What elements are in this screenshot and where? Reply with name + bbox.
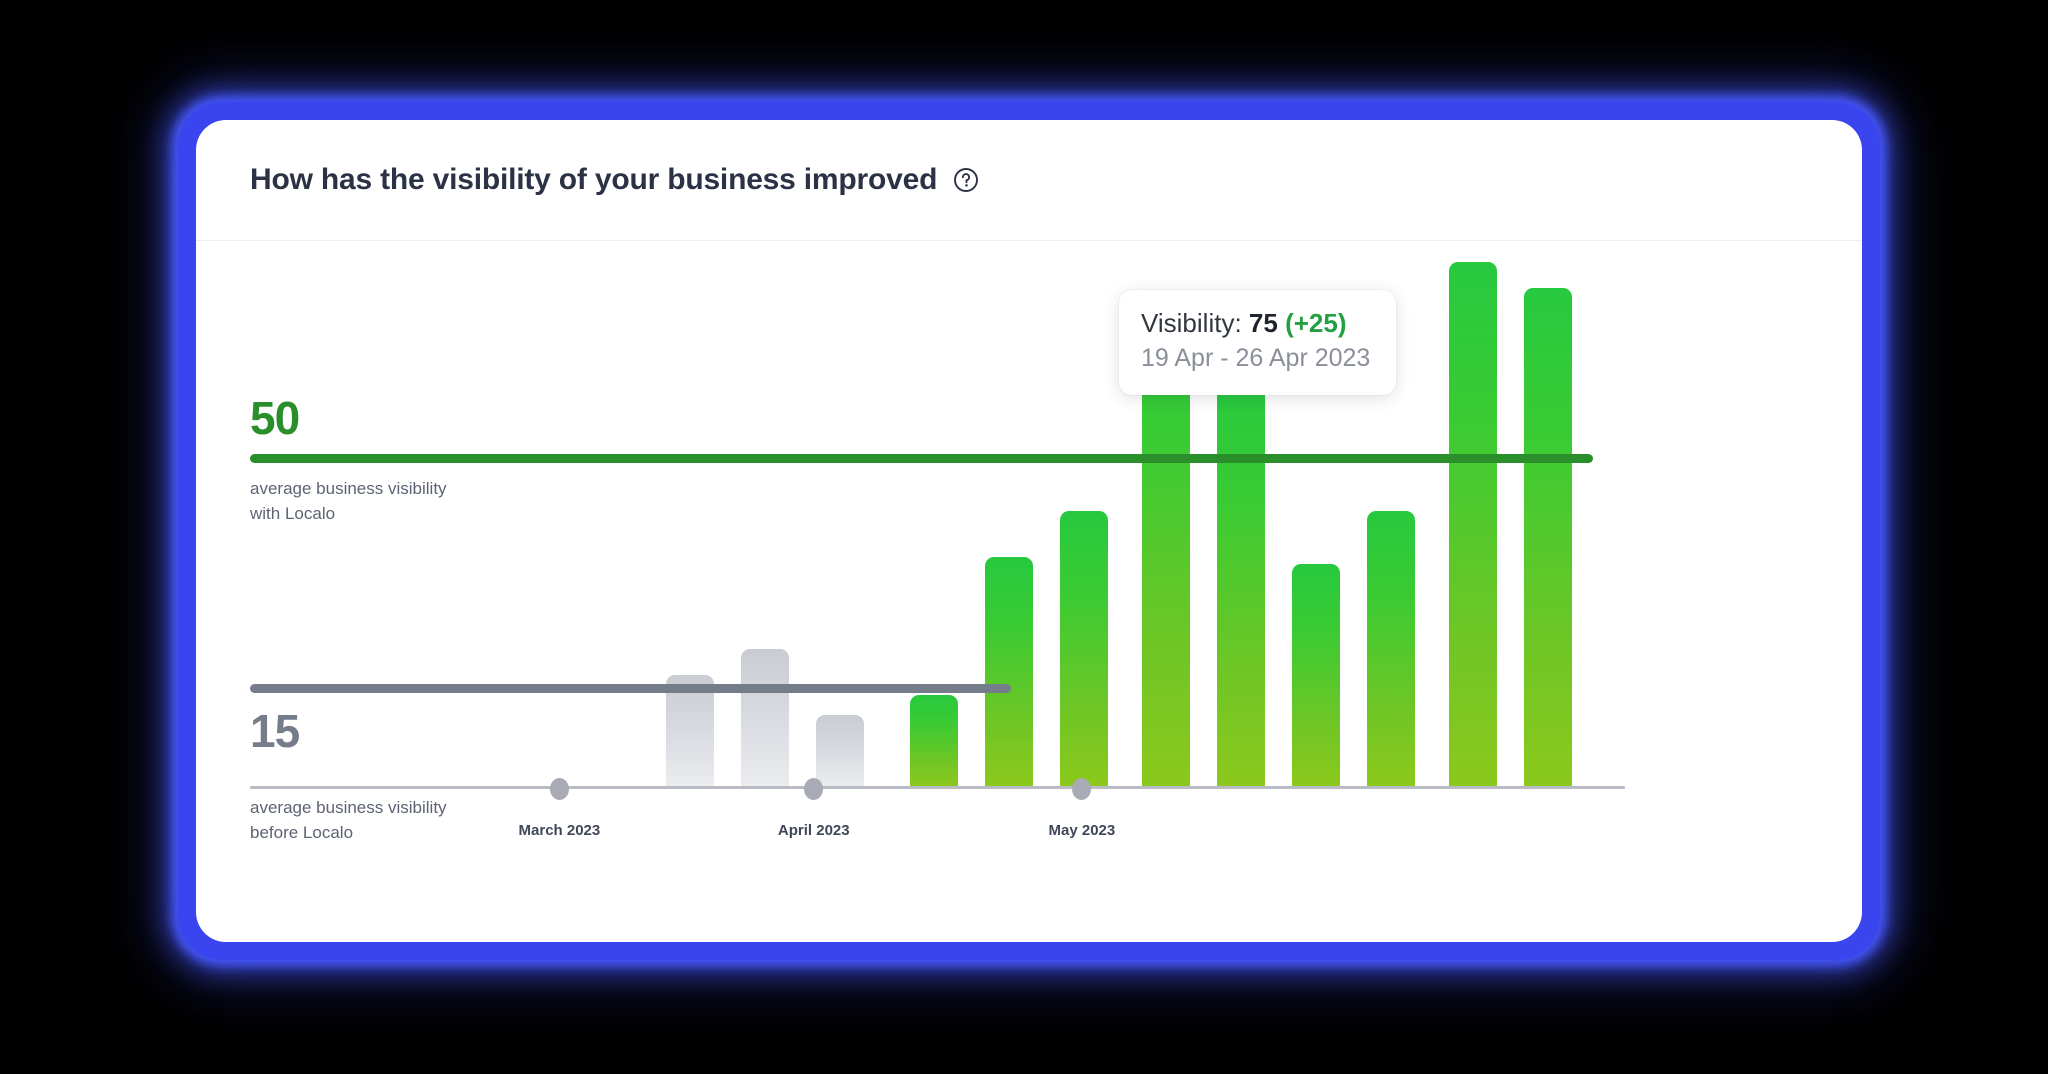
reference-value-with-localo: 50 xyxy=(250,395,299,441)
chart-bar[interactable] xyxy=(816,715,864,787)
x-axis-tick-label: May 2023 xyxy=(1049,822,1116,839)
chart-bar[interactable] xyxy=(741,649,789,787)
reference-block-with-localo: 50 xyxy=(250,395,299,441)
reference-block-before-localo: 15 xyxy=(250,708,299,754)
reference-line-before-localo xyxy=(250,684,1011,693)
reference-caption-with-localo: average business visibility with Localo xyxy=(250,477,550,526)
reference-value-before-localo: 15 xyxy=(250,708,299,754)
x-axis-line xyxy=(250,786,1625,789)
reference-caption-before-localo: average business visibility before Local… xyxy=(250,796,550,845)
chart-bar[interactable] xyxy=(1524,288,1572,787)
tooltip-metric-value: 75 xyxy=(1249,308,1278,338)
chart-bar[interactable] xyxy=(985,557,1033,787)
x-axis-tick-dot xyxy=(550,778,569,800)
chart-bar[interactable] xyxy=(910,695,958,787)
question-circle-icon[interactable] xyxy=(953,167,979,193)
tooltip-metric-row: Visibility: 75 (+25) xyxy=(1141,307,1370,340)
page-title: How has the visibility of your business … xyxy=(250,163,937,197)
x-axis-tick-label: April 2023 xyxy=(778,822,850,839)
reference-line-with-localo xyxy=(250,454,1593,463)
chart-plot-area: 50 average business visibility with Loca… xyxy=(196,240,1862,942)
chart-bar[interactable] xyxy=(1060,511,1108,787)
chart-tooltip: Visibility: 75 (+25) 19 Apr - 26 Apr 202… xyxy=(1119,290,1396,395)
chart-bar[interactable] xyxy=(1449,262,1497,787)
tooltip-metric-delta: (+25) xyxy=(1285,308,1346,338)
tooltip-date-range: 19 Apr - 26 Apr 2023 xyxy=(1141,342,1370,375)
visibility-chart-card: How has the visibility of your business … xyxy=(196,120,1862,942)
chart-bar[interactable] xyxy=(1292,564,1340,787)
card-header: How has the visibility of your business … xyxy=(196,120,1862,240)
screenshot-root: How has the visibility of your business … xyxy=(0,0,2048,1074)
chart-bar[interactable] xyxy=(1217,380,1265,787)
tooltip-metric-label: Visibility: xyxy=(1141,308,1242,338)
x-axis-tick-label: March 2023 xyxy=(519,822,601,839)
chart-bar[interactable] xyxy=(1367,511,1415,787)
